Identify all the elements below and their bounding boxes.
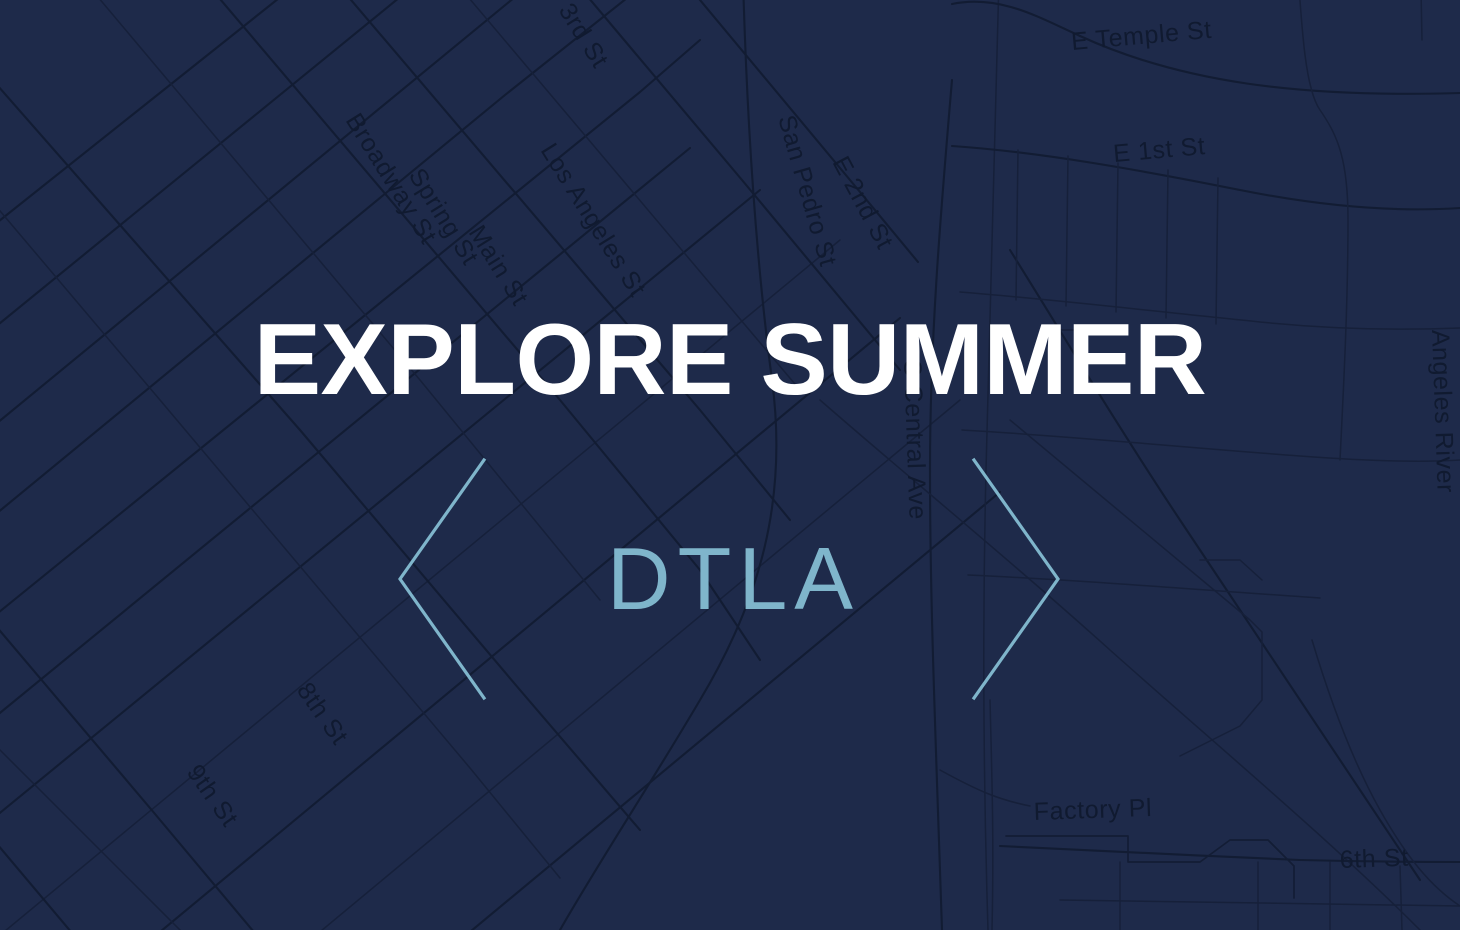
map-roads-diagonal-avenues	[0, 0, 1000, 930]
street-label: E 2nd St	[827, 152, 899, 254]
map-street-labels: Broadway StSpring StMain St3rd StLos Ang…	[181, 0, 1460, 874]
map-roads-parcels	[1010, 330, 1262, 756]
street-label: 6th St	[1339, 844, 1409, 874]
street-label: Los Angeles St	[535, 138, 652, 301]
street-label: San Pedro St	[772, 112, 842, 270]
street-label: E Temple St	[1070, 16, 1213, 56]
street-label: S Central Ave	[898, 359, 932, 520]
street-label: 3rd St	[553, 0, 614, 73]
explore-summer-banner: Broadway StSpring StMain St3rd StLos Ang…	[0, 0, 1460, 930]
map-roads-arterials	[560, 0, 1420, 930]
street-label: 8th St	[291, 677, 353, 750]
map-background: Broadway StSpring StMain St3rd StLos Ang…	[0, 0, 1460, 930]
map-roads-east-grid	[952, 0, 1460, 598]
street-label: Angeles River	[1426, 329, 1460, 493]
street-label: E 1st St	[1112, 132, 1206, 168]
street-label: 9th St	[181, 759, 243, 832]
street-label: Factory Pl	[1033, 794, 1152, 826]
map-roads-south-east	[940, 640, 1460, 930]
